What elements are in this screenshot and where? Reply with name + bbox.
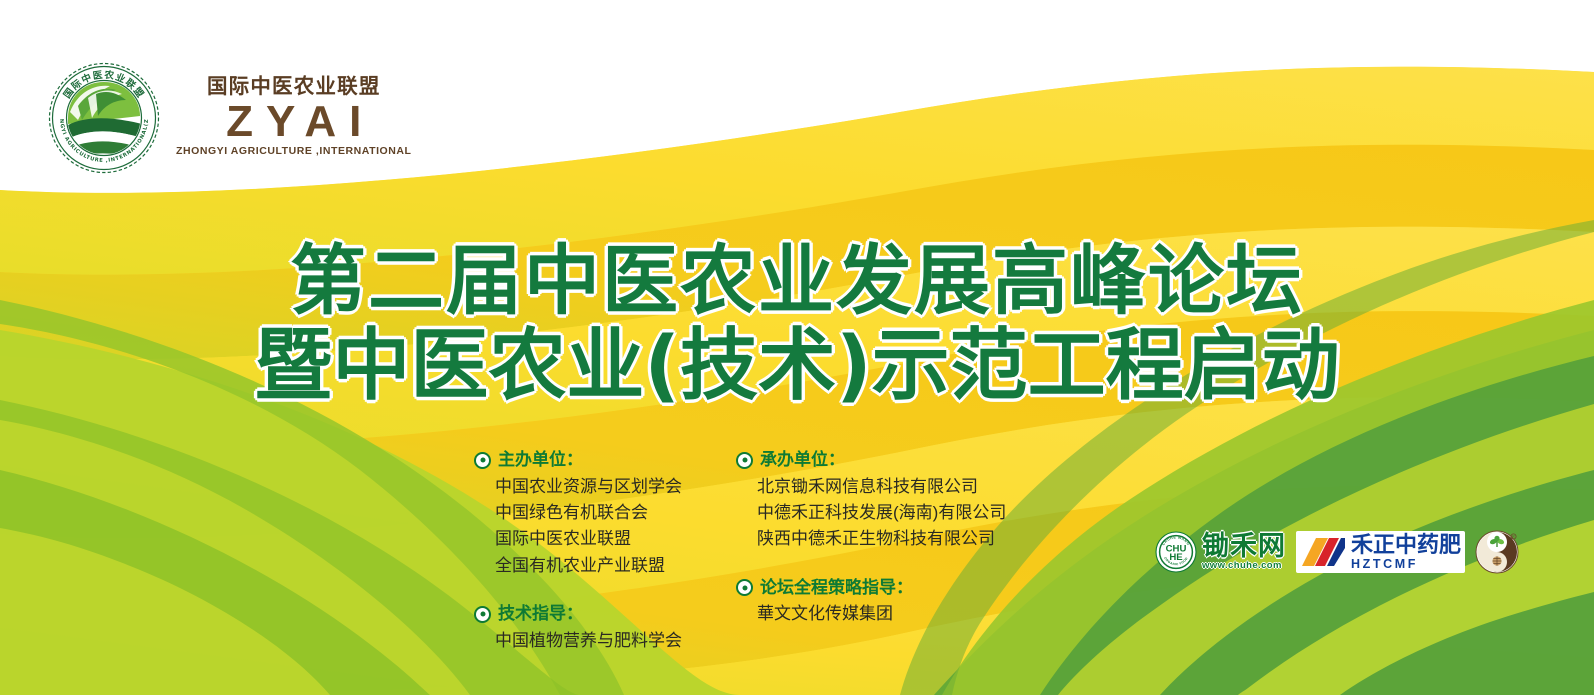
credit-heading-label: 主办单位： — [498, 448, 583, 473]
sponsor-yinyang-seed: R — [1475, 530, 1519, 574]
credit-spacer — [736, 562, 1036, 576]
bullet-icon — [474, 452, 491, 469]
yinyang-seedling-logo-icon: R — [1475, 530, 1519, 574]
credit-heading-row: 承办单位： — [736, 448, 1036, 473]
credit-item-list: 北京锄禾网信息科技有限公司 中德禾正科技发展(海南)有限公司 陕西中德禾正生物科… — [736, 474, 1036, 553]
credits-section: 主办单位： 中国农业资源与区划学会 中国绿色有机联合会 国际中医农业联盟 全国有… — [474, 448, 1036, 654]
hztcmf-ribbon-logo-icon — [1300, 536, 1346, 568]
credit-heading-row: 主办单位： — [474, 448, 736, 473]
credit-heading-label: 论坛全程策略指导： — [760, 576, 913, 601]
credit-item: 全国有机农业产业联盟 — [495, 553, 736, 579]
banner-title: 第二届中医农业发展高峰论坛 暨中医农业(技术)示范工程启动 — [0, 238, 1594, 410]
bullet-icon — [736, 452, 753, 469]
credit-heading-row: 技术指导： — [474, 602, 736, 627]
credit-item: 中德禾正科技发展(海南)有限公司 — [757, 500, 1036, 526]
credit-heading-row: 论坛全程策略指导： — [736, 576, 1036, 601]
credit-item: 中国植物营养与肥料学会 — [495, 628, 736, 654]
sponsor-url: www.chuhe.com — [1202, 561, 1282, 571]
credit-item: 中国农业资源与区划学会 — [495, 474, 736, 500]
credits-right-column: 承办单位： 北京锄禾网信息科技有限公司 中德禾正科技发展(海南)有限公司 陕西中… — [736, 448, 1036, 654]
credit-group-technical-guidance: 技术指导： 中国植物营养与肥料学会 — [474, 602, 736, 654]
credit-item: 国际中医农业联盟 — [495, 526, 736, 552]
svg-text:HE: HE — [1169, 552, 1183, 563]
sponsor-name: 锄禾网 — [1202, 533, 1286, 560]
zyai-wordmark: 国际中医农业联盟 ZYAI ZHONGYI AGRICULTURE ,INTER… — [176, 77, 412, 159]
credit-item: 中国绿色有机联合会 — [495, 500, 736, 526]
credit-item-list: 中国农业资源与区划学会 中国绿色有机联合会 国际中医农业联盟 全国有机农业产业联… — [474, 474, 736, 579]
credits-left-column: 主办单位： 中国农业资源与区划学会 中国绿色有机联合会 国际中医农业联盟 全国有… — [474, 448, 736, 654]
credit-group-host: 承办单位： 北京锄禾网信息科技有限公司 中德禾正科技发展(海南)有限公司 陕西中… — [736, 448, 1036, 553]
sponsor-logo-strip: CHUHE WANG ORGANIC FOOD CHU HE 锄禾网 www.c… — [1155, 530, 1519, 574]
masthead: 国际中医农业联盟 ZHONGYI AGRICULTURE ,INTERNATIO… — [48, 62, 412, 174]
svg-text:R: R — [1512, 535, 1515, 539]
title-line-2: 暨中医农业(技术)示范工程启动 — [0, 323, 1594, 410]
credit-item: 北京锄禾网信息科技有限公司 — [757, 474, 1036, 500]
chuhe-circle-logo-icon: CHUHE WANG ORGANIC FOOD CHU HE — [1155, 531, 1197, 573]
credit-heading-label: 承办单位： — [760, 448, 845, 473]
bullet-icon — [736, 579, 753, 596]
credit-group-organizer: 主办单位： 中国农业资源与区划学会 中国绿色有机联合会 国际中医农业联盟 全国有… — [474, 448, 736, 579]
sponsor-acronym: HZTCMF — [1351, 558, 1418, 571]
sponsor-hztcmf: 禾正中药肥 HZTCMF — [1296, 531, 1465, 574]
wordmark-acronym: ZYAI — [213, 100, 374, 145]
credit-group-strategy-guidance: 论坛全程策略指导： 華文文化传媒集团 — [736, 576, 1036, 628]
credit-item: 陕西中德禾正生物科技有限公司 — [757, 526, 1036, 552]
zyai-emblem-icon: 国际中医农业联盟 ZHONGYI AGRICULTURE ,INTERNATIO… — [48, 62, 160, 174]
conference-banner: 国际中医农业联盟 ZHONGYI AGRICULTURE ,INTERNATIO… — [0, 0, 1594, 695]
credit-item: 華文文化传媒集团 — [757, 601, 1036, 627]
credit-item-list: 中国植物营养与肥料学会 — [474, 628, 736, 654]
credit-item-list: 華文文化传媒集团 — [736, 601, 1036, 627]
credit-spacer — [474, 588, 736, 602]
sponsor-name: 禾正中药肥 — [1351, 534, 1461, 556]
bullet-icon — [474, 606, 491, 623]
wordmark-english: ZHONGYI AGRICULTURE ,INTERNATIONAL — [176, 146, 412, 157]
sponsor-chuhe: CHUHE WANG ORGANIC FOOD CHU HE 锄禾网 www.c… — [1155, 531, 1286, 573]
title-line-1: 第二届中医农业发展高峰论坛 — [0, 238, 1594, 323]
credit-heading-label: 技术指导： — [498, 602, 583, 627]
wordmark-chinese: 国际中医农业联盟 — [207, 77, 381, 98]
